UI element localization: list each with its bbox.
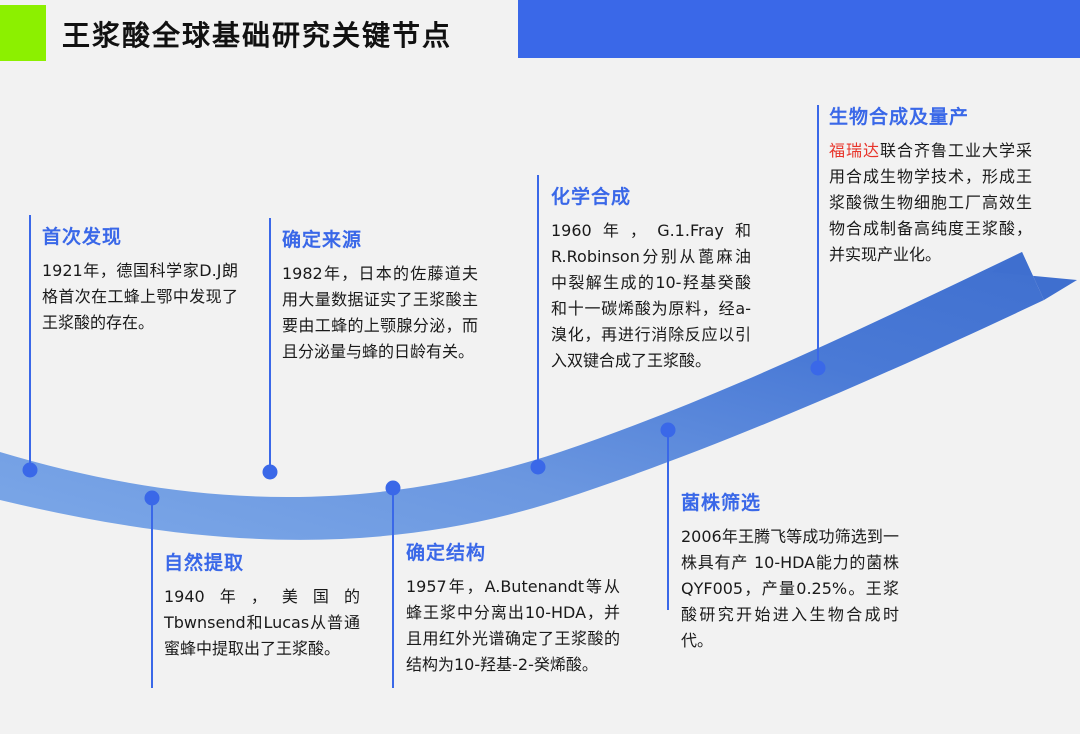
- milestone-body: 1960年，G.1.Fray和R.Robinson分别从蓖麻油中裂解生成的10-…: [551, 218, 751, 373]
- milestone-body: 1940年，美国的Tbwnsend和Lucas从普通蜜蜂中提取出了王浆酸。: [164, 584, 360, 662]
- milestone-strain-screening[interactable]: 菌株筛选 2006年王腾飞等成功筛选到一株具有产 10-HDA能力的菌株QYF0…: [681, 488, 899, 654]
- connector-line-biosynthesis-mass-production: [817, 105, 819, 368]
- brand-name-highlight: 福瑞达: [829, 141, 880, 160]
- milestone-title: 首次发现: [42, 222, 238, 249]
- milestone-body: 1957年，A.Butenandt等从蜂王浆中分离出10-HDA，并且用红外光谱…: [406, 574, 620, 678]
- milestone-title: 生物合成及量产: [829, 102, 1032, 129]
- milestone-body: 1982年，日本的佐藤道夫用大量数据证实了王浆酸主要由工蜂的上颚腺分泌，而且分泌…: [282, 261, 478, 365]
- connector-dot-determine-structure: [386, 481, 401, 496]
- connector-dot-strain-screening: [661, 423, 676, 438]
- connector-dot-chemical-synthesis: [531, 460, 546, 475]
- header-green-accent-block: [0, 5, 46, 61]
- milestone-body-with-brand: 福瑞达联合齐鲁工业大学采用合成生物学技术，形成王浆酸微生物细胞工厂高效生物合成制…: [829, 138, 1032, 268]
- connector-line-determine-structure: [392, 488, 394, 688]
- connector-line-first-discovery: [29, 215, 31, 470]
- connector-dot-determine-source: [263, 465, 278, 480]
- milestone-title: 自然提取: [164, 548, 360, 575]
- milestone-biosynthesis-mass-production[interactable]: 生物合成及量产 福瑞达联合齐鲁工业大学采用合成生物学技术，形成王浆酸微生物细胞工…: [829, 102, 1032, 268]
- connector-dot-natural-extraction: [145, 491, 160, 506]
- milestone-first-discovery[interactable]: 首次发现 1921年，德国科学家D.J朗格首次在工蜂上鄂中发现了王浆酸的存在。: [42, 222, 238, 336]
- connector-line-chemical-synthesis: [537, 175, 539, 467]
- connector-line-strain-screening: [667, 430, 669, 610]
- milestone-natural-extraction[interactable]: 自然提取 1940年，美国的Tbwnsend和Lucas从普通蜜蜂中提取出了王浆…: [164, 548, 360, 662]
- connector-line-natural-extraction: [151, 498, 153, 688]
- connector-line-determine-source: [269, 218, 271, 472]
- connector-dot-biosynthesis-mass-production: [811, 361, 826, 376]
- connector-dot-first-discovery: [23, 463, 38, 478]
- milestone-body: 1921年，德国科学家D.J朗格首次在工蜂上鄂中发现了王浆酸的存在。: [42, 258, 238, 336]
- milestone-determine-structure[interactable]: 确定结构 1957年，A.Butenandt等从蜂王浆中分离出10-HDA，并且…: [406, 538, 620, 678]
- milestone-body: 2006年王腾飞等成功筛选到一株具有产 10-HDA能力的菌株QYF005，产量…: [681, 524, 899, 654]
- milestone-title: 化学合成: [551, 182, 751, 209]
- page-title: 王浆酸全球基础研究关键节点: [62, 14, 462, 54]
- milestone-title: 菌株筛选: [681, 488, 899, 515]
- milestone-determine-source[interactable]: 确定来源 1982年，日本的佐藤道夫用大量数据证实了王浆酸主要由工蜂的上颚腺分泌…: [282, 225, 478, 365]
- milestone-title: 确定结构: [406, 538, 620, 565]
- header-blue-accent-block: [518, 0, 1080, 58]
- header-bar: 王浆酸全球基础研究关键节点: [0, 0, 1080, 62]
- milestone-title: 确定来源: [282, 225, 478, 252]
- milestone-chemical-synthesis[interactable]: 化学合成 1960年，G.1.Fray和R.Robinson分别从蓖麻油中裂解生…: [551, 182, 751, 373]
